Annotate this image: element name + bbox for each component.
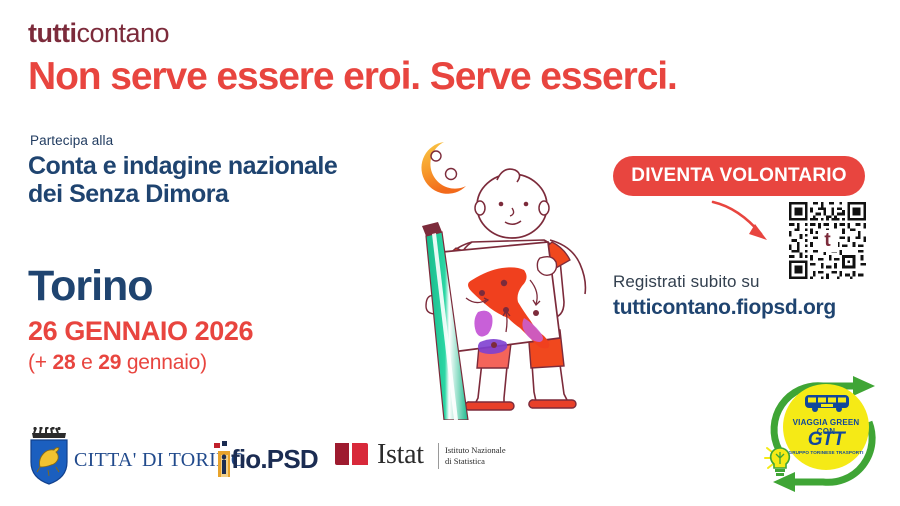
partner-logos: CITTA' DI TORINO fio.PSD Istat Ist: [0, 425, 560, 495]
subtitle-line-2: dei Senza Dimora: [28, 180, 337, 208]
bus-icon: [803, 392, 851, 414]
arrow-head-top: [853, 376, 875, 396]
extra-date-day1: 28: [53, 351, 76, 374]
event-date: 26 GENNAIO 2026: [28, 318, 253, 345]
logo-istat-subtitle: Istituto Nazionale di Statistica: [445, 445, 506, 467]
qr-code[interactable]: t: [789, 202, 866, 279]
register-url-link[interactable]: tutticontano.fiopsd.org: [613, 296, 836, 320]
person-holding-italy-map-illustration: [400, 130, 620, 420]
crescent-moon-icon: [421, 142, 466, 194]
headline: Non serve essere eroi. Serve esserci.: [28, 56, 677, 98]
curved-arrow-icon: [705, 196, 795, 252]
diventa-volontario-button[interactable]: DIVENTA VOLONTARIO: [613, 156, 865, 196]
subtitle-line-1: Conta e indagine nazionale: [28, 152, 337, 180]
kicker-text: Partecipa alla: [30, 133, 113, 148]
gtt-viaggia-green-badge: VIAGGIA GREEN CON GTT GRUPPO TORINESE TR…: [757, 372, 887, 502]
register-label: Registrati subito su: [613, 272, 760, 292]
logo-istat: Istat Istituto Nazionale di Statistica: [333, 439, 513, 481]
brand-logo-strong: tutti: [28, 18, 76, 48]
brand-logo: tutticontano: [28, 20, 169, 47]
extra-date-day2: 29: [98, 351, 121, 374]
lightbulb-icon: [763, 440, 797, 478]
event-extra-dates: (+ 28 e 29 gennaio): [28, 352, 207, 373]
logo-istat-subtitle-line-2: di Statistica: [445, 456, 506, 467]
extra-dates-open: (+: [28, 351, 53, 374]
qr-center-logo: t: [818, 230, 838, 252]
gtt-subtitle: GRUPPO TORINESE TRASPORTI: [787, 450, 865, 455]
extra-dates-middle: e: [75, 351, 98, 374]
logo-fio-psd: fio.PSD: [213, 439, 323, 479]
logo-fio-psd-label: fio.PSD: [231, 444, 318, 475]
logo-citta-di-torino: CITTA' DI TORINO: [26, 427, 196, 489]
head: [475, 169, 549, 238]
logo-istat-divider: [438, 443, 439, 469]
gtt-mark: GTT: [787, 430, 865, 449]
city-name: Torino: [28, 265, 153, 308]
logo-istat-subtitle-line-1: Istituto Nazionale: [445, 445, 506, 456]
brand-logo-light: contano: [76, 18, 169, 48]
torino-shield-icon: [26, 427, 72, 485]
logo-istat-word: Istat: [377, 441, 424, 469]
subtitle: Conta e indagine nazionale dei Senza Dim…: [28, 152, 337, 208]
poster-root: tutticontano Non serve essere eroi. Serv…: [0, 0, 900, 506]
extra-dates-close: gennaio): [121, 351, 207, 374]
istat-books-icon: [333, 439, 373, 469]
